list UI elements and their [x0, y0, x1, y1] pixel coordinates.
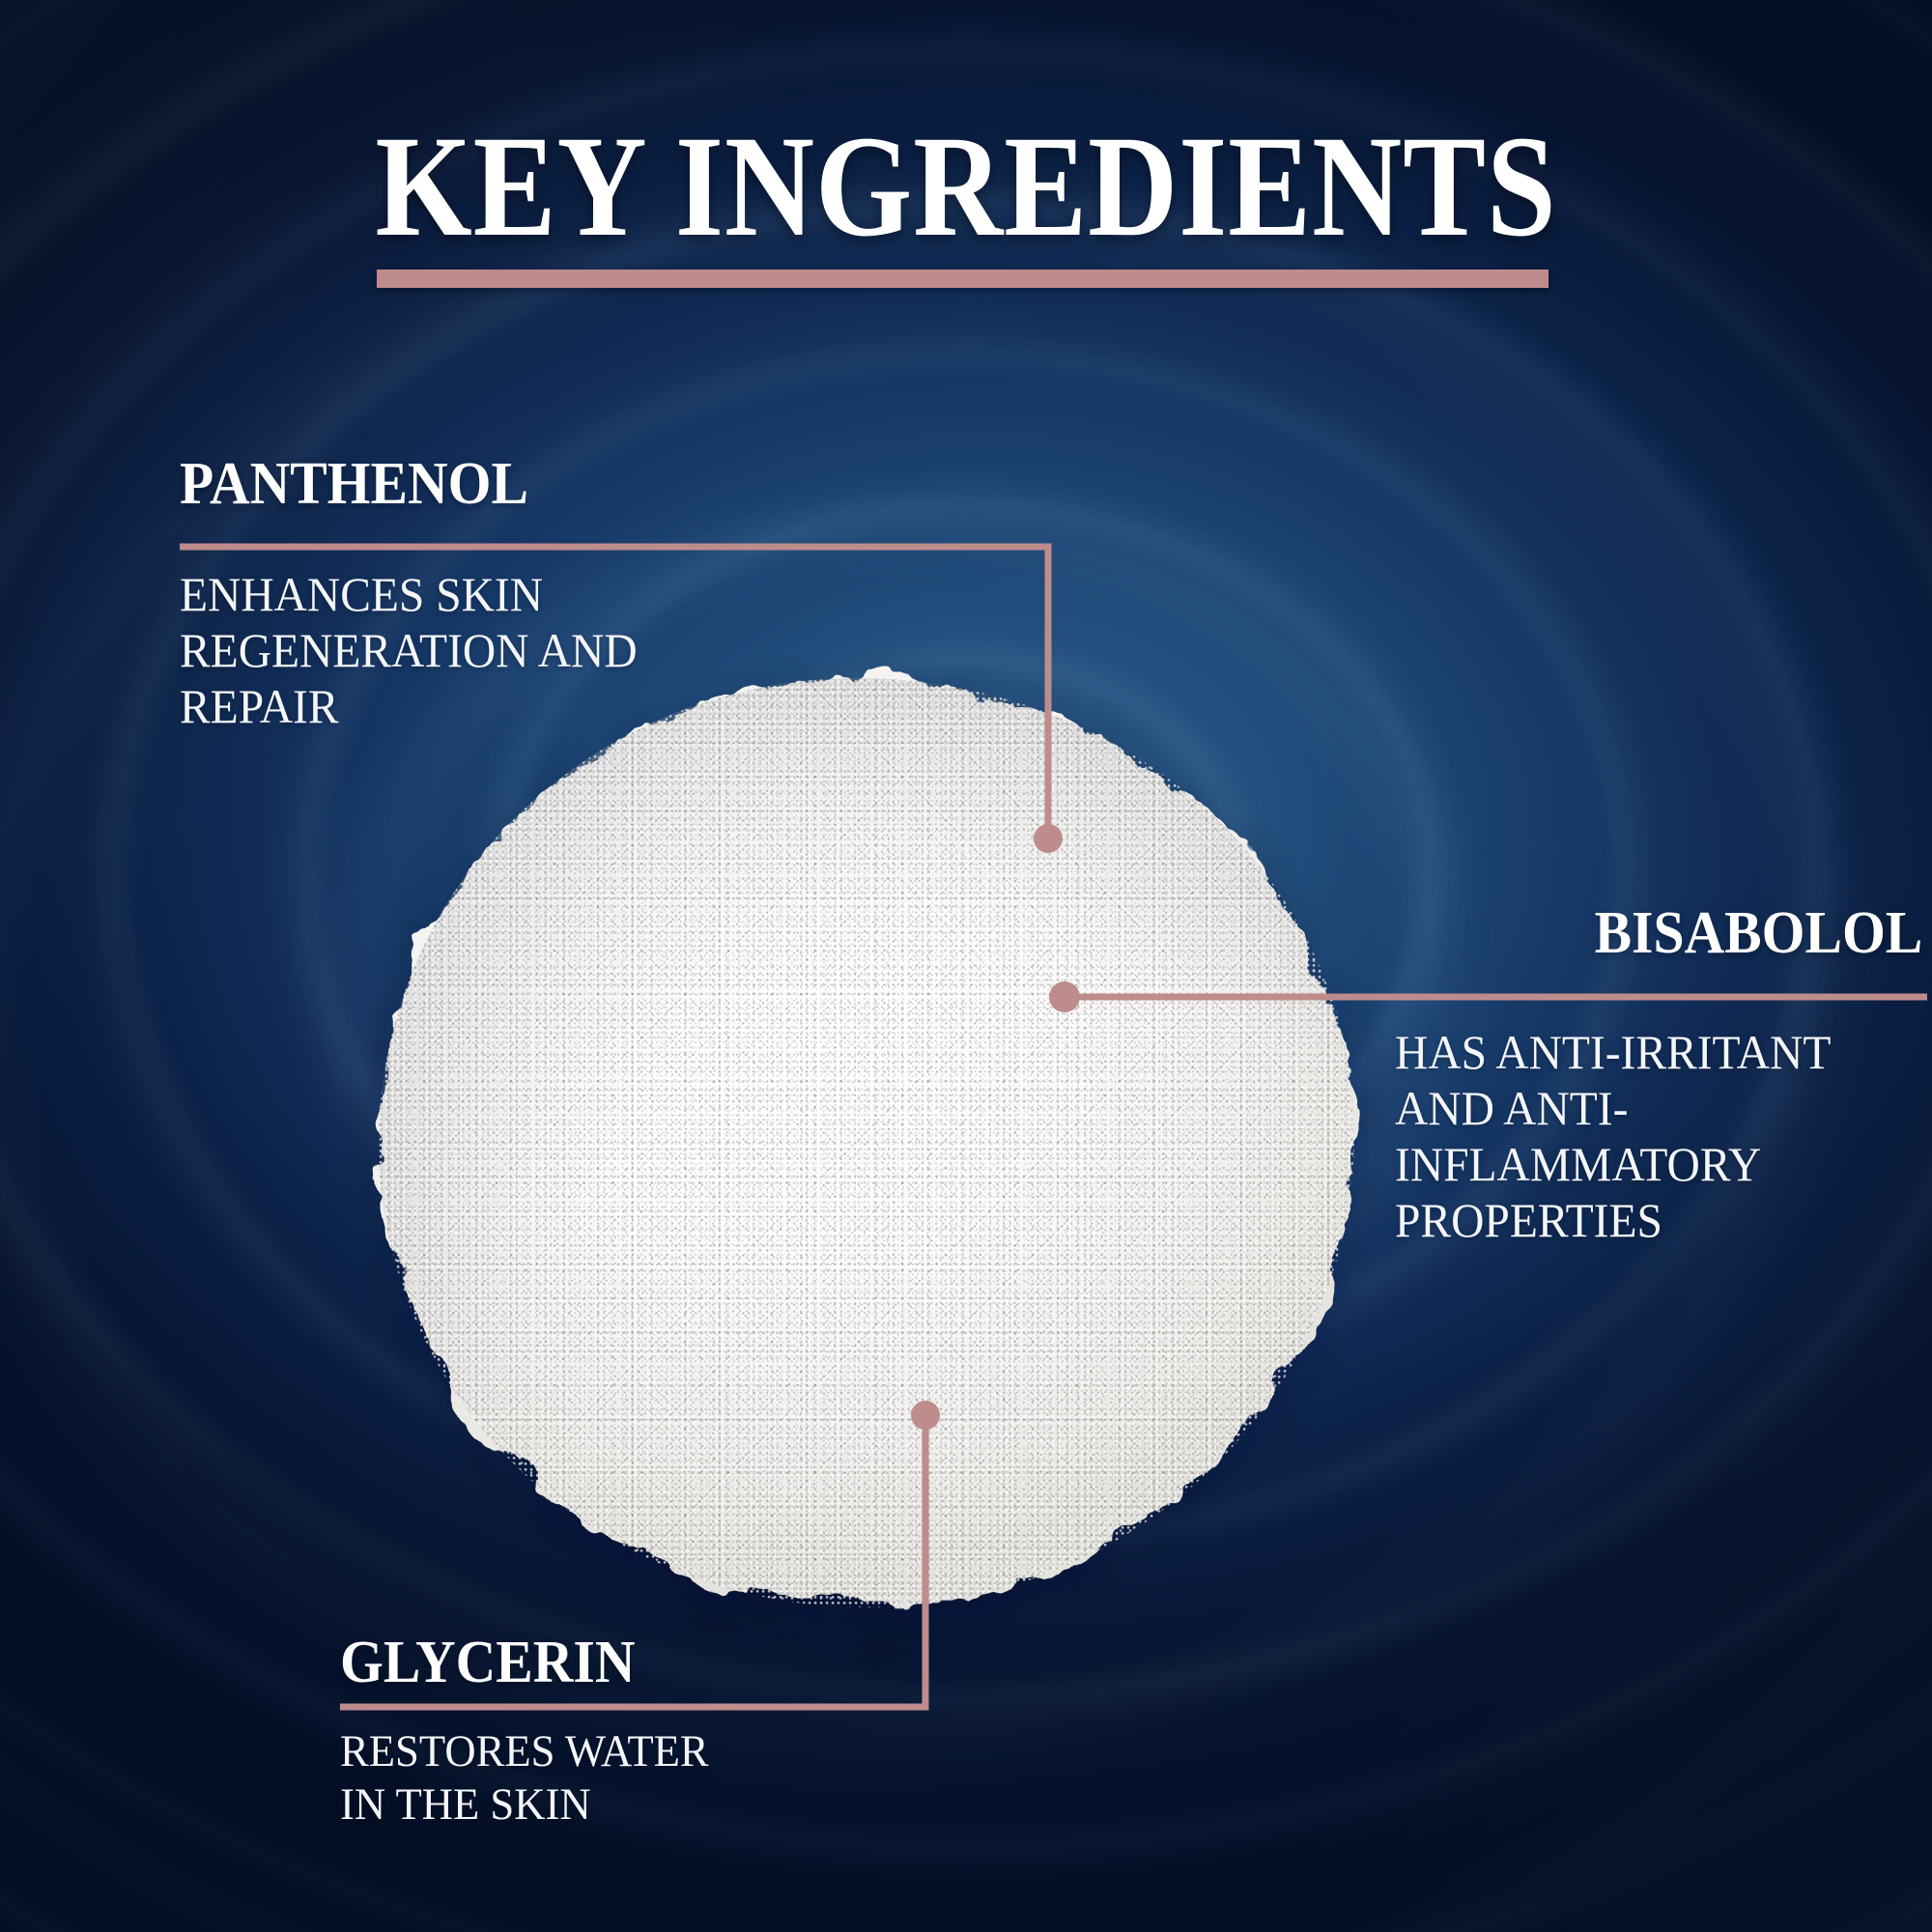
description-line: INFLAMMATORY — [1395, 1136, 1909, 1192]
powder-swatch — [379, 678, 1354, 1607]
description-line: REGENERATION AND — [180, 622, 767, 678]
powder-grain-light — [379, 678, 1354, 1607]
description-line: PROPERTIES — [1395, 1192, 1909, 1248]
ingredient-description-panthenol: ENHANCES SKIN REGENERATION AND REPAIR — [180, 566, 767, 734]
description-line: AND ANTI- — [1395, 1080, 1909, 1136]
description-line: RESTORES WATER — [340, 1725, 854, 1778]
ingredient-title-glycerin: GLYCERIN — [340, 1633, 635, 1693]
ingredient-description-bisabolol: HAS ANTI-IRRITANT AND ANTI- INFLAMMATORY… — [1395, 1024, 1909, 1248]
description-line: ENHANCES SKIN — [180, 566, 767, 622]
title-underline-rule — [377, 270, 1548, 288]
ingredient-title-bisabolol: BISABOLOL — [1594, 903, 1922, 964]
page-title: KEY INGREDIENTS — [135, 114, 1797, 259]
description-line: IN THE SKIN — [340, 1778, 854, 1832]
description-line: REPAIR — [180, 678, 767, 734]
ingredient-title-panthenol: PANTHENOL — [180, 454, 528, 515]
key-ingredients-infographic: KEY INGREDIENTS PANTHENOL ENHANCES SKIN … — [0, 0, 1932, 1932]
ingredient-description-glycerin: RESTORES WATER IN THE SKIN — [340, 1725, 854, 1831]
description-line: HAS ANTI-IRRITANT — [1395, 1024, 1909, 1080]
